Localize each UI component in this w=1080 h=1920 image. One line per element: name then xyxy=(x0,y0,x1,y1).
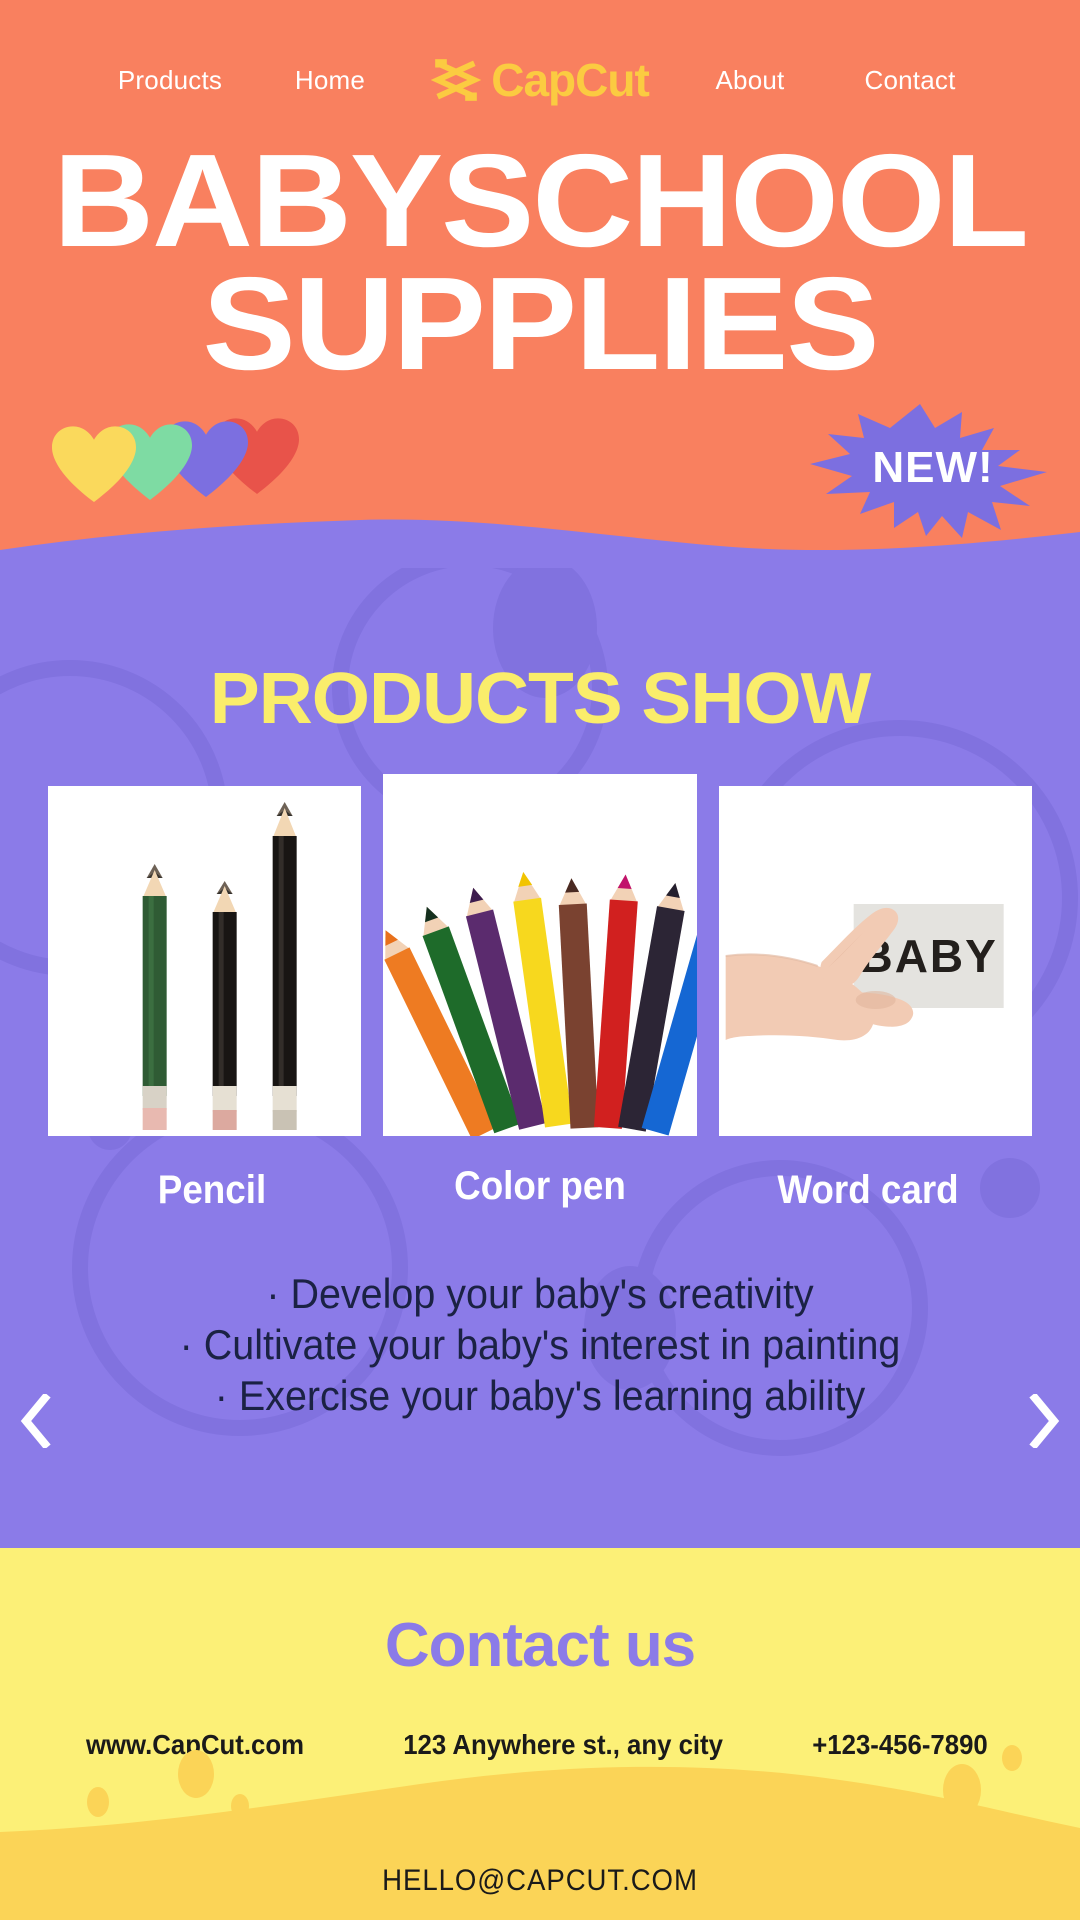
hand-holding-baby-card-photo: BABY xyxy=(719,786,1032,1136)
colored-pencils-photo xyxy=(383,774,696,1136)
nav-item-home[interactable]: Home xyxy=(255,65,405,96)
heart-icon-yellow xyxy=(52,426,136,504)
capcut-logo-icon xyxy=(431,55,481,105)
contact-email[interactable]: HELLO@CAPCUT.COM xyxy=(43,1864,1037,1898)
product-benefits-list: · Develop your baby's creativity · Culti… xyxy=(0,1268,1080,1422)
product-label-word-card: Word card xyxy=(717,1168,1019,1228)
contact-section: Contact us www.CapCut.com 123 Anywhere s… xyxy=(0,1548,1080,1920)
product-card-color-pen[interactable] xyxy=(383,774,696,1136)
nav-label-about: About xyxy=(716,65,785,95)
nav-label-home: Home xyxy=(295,65,365,95)
contact-section-title: Contact us xyxy=(0,1610,1080,1681)
product-labels: Pencil Color pen Word card xyxy=(48,1168,1032,1228)
product-card-pencil[interactable] xyxy=(48,786,361,1136)
nav-item-about[interactable]: About xyxy=(675,65,825,96)
product-label-color-pen: Color pen xyxy=(389,1164,691,1224)
brand-name: CapCut xyxy=(491,53,649,107)
headline-line-2: SUPPLIES xyxy=(0,263,1080,386)
product-card-word-card[interactable]: BABY xyxy=(719,786,1032,1136)
main-navigation: Products Home CapCut About xyxy=(0,50,1080,110)
pencils-photo xyxy=(48,786,361,1136)
headline-line-1: BABYSCHOOL xyxy=(0,140,1080,263)
benefit-item-1: · Develop your baby's creativity xyxy=(32,1268,1047,1319)
poster-page: Products Home CapCut About xyxy=(0,0,1080,1920)
nav-item-contact[interactable]: Contact xyxy=(825,65,995,96)
product-label-pencil: Pencil xyxy=(61,1168,363,1228)
nav-label-products: Products xyxy=(118,65,222,95)
benefit-item-2: · Cultivate your baby's interest in pain… xyxy=(32,1319,1047,1370)
nav-item-products[interactable]: Products xyxy=(85,65,255,96)
products-section: PRODUCTS SHOW xyxy=(0,568,1080,1560)
benefit-item-3: · Exercise your baby's learning ability xyxy=(32,1370,1047,1421)
hero-section: Products Home CapCut About xyxy=(0,0,1080,600)
nav-label-contact: Contact xyxy=(864,65,955,95)
brand-logo[interactable]: CapCut xyxy=(405,53,675,107)
product-card-carousel: BABY xyxy=(48,786,1032,1136)
page-title: BABYSCHOOL SUPPLIES xyxy=(0,140,1080,386)
products-section-title: PRODUCTS SHOW xyxy=(0,658,1080,740)
